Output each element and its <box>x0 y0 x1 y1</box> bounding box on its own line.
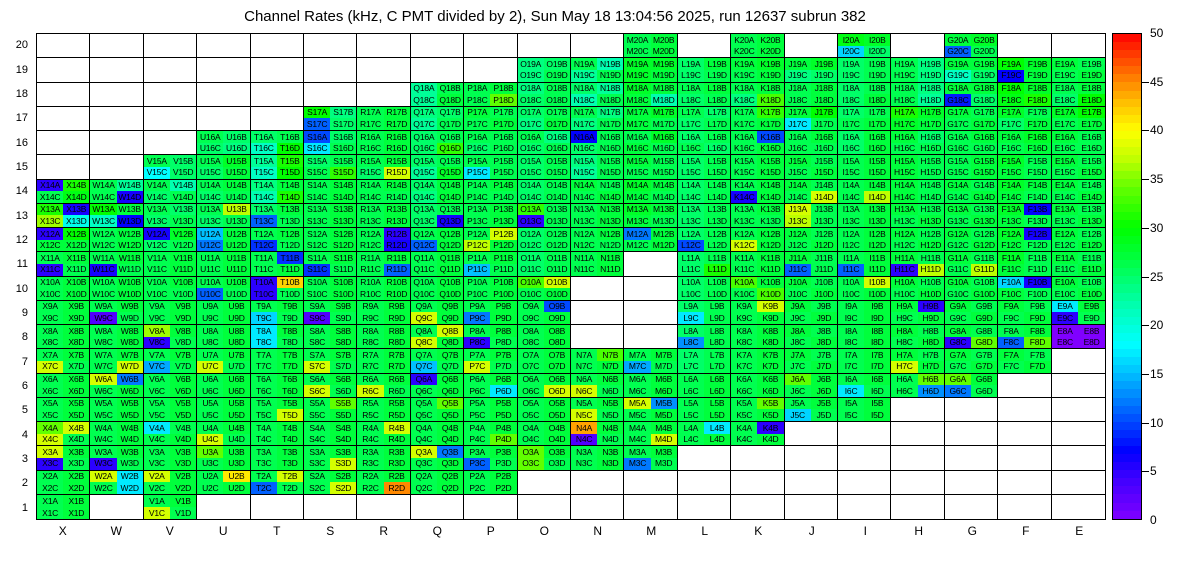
channel-E7C <box>1052 361 1079 373</box>
colorbar-segment <box>1113 139 1141 147</box>
channel-U3D: U3D <box>223 458 249 470</box>
channel-P6D: P6D <box>490 385 516 397</box>
channel-S10D: S10D <box>330 288 356 300</box>
channel-O3A: O3A <box>518 446 544 458</box>
channel-I19A: I19A <box>838 58 864 70</box>
grid-cell-W2: W2AW2BW2CW2D <box>90 471 143 495</box>
channel-J16B: J16B <box>811 131 837 143</box>
channel-H19A: H19A <box>891 58 917 70</box>
channel-G10D: G10D <box>971 288 997 300</box>
colorbar-tickmark <box>1142 423 1149 424</box>
channel-G2B <box>971 471 997 483</box>
channel-W7C: W7C <box>90 361 116 373</box>
channel-N11A: N11A <box>571 252 597 264</box>
channel-Q17A: Q17A <box>411 107 437 119</box>
channel-N15A: N15A <box>571 155 597 167</box>
channel-L4C: L4C <box>678 434 704 446</box>
channel-E3B <box>1078 446 1105 458</box>
channel-K2D <box>757 482 783 494</box>
colorbar-segment <box>1113 123 1141 131</box>
channel-R16D: R16D <box>384 143 410 155</box>
channel-F20A <box>998 34 1024 46</box>
channel-I16A: I16A <box>838 131 864 143</box>
channel-N3C: N3C <box>571 458 597 470</box>
channel-S1A <box>304 495 330 507</box>
channel-T9C: T9C <box>251 312 277 324</box>
channel-V5B: V5B <box>170 398 196 410</box>
channel-J13D: J13D <box>811 215 837 227</box>
channel-X16D <box>63 143 89 155</box>
grid-cell-S2: S2AS2BS2CS2D <box>304 471 357 495</box>
channel-S18A <box>304 83 330 95</box>
channel-H5B <box>918 398 944 410</box>
channel-H15B: H15B <box>918 155 944 167</box>
grid-cell-J4 <box>785 422 838 446</box>
channel-H2D <box>918 482 944 494</box>
channel-J8A: J8A <box>785 325 811 337</box>
grid-cell-E16: E16AE16BE16CE16D <box>1052 131 1105 155</box>
channel-N9D <box>597 312 623 324</box>
channel-S8A: S8A <box>304 325 330 337</box>
channel-P17A: P17A <box>464 107 490 119</box>
channel-S5D: S5D <box>330 409 356 421</box>
channel-L6D: L6D <box>704 385 730 397</box>
channel-J20B <box>811 34 837 46</box>
channel-H15D: H15D <box>918 167 944 179</box>
channel-P4A: P4A <box>464 422 490 434</box>
channel-T19C <box>251 70 277 82</box>
channel-I18B: I18B <box>864 83 890 95</box>
channel-J4C <box>785 434 811 446</box>
grid-cell-N16: N16AN16BN16CN16D <box>571 131 624 155</box>
channel-V6C: V6C <box>144 385 170 397</box>
channel-K8A: K8A <box>731 325 757 337</box>
channel-J3A <box>785 446 811 458</box>
grid-cell-I9: I9AI9BI9CI9D <box>838 301 891 325</box>
grid-cell-F1 <box>998 495 1051 519</box>
channel-P11B: P11B <box>490 252 516 264</box>
channel-R19B <box>384 58 410 70</box>
channel-L20B <box>704 34 730 46</box>
channel-M8B <box>651 325 677 337</box>
channel-G1A <box>945 495 971 507</box>
channel-O11A: O11A <box>518 252 544 264</box>
channel-Q17C: Q17C <box>411 118 437 130</box>
channel-M17B: M17B <box>651 107 677 119</box>
channel-W4D: W4D <box>117 434 143 446</box>
grid-cell-N17: N17AN17BN17CN17D <box>571 107 624 131</box>
channel-X2A: X2A <box>37 471 63 483</box>
channel-M12C: M12C <box>624 240 650 252</box>
channel-U16B: U16B <box>223 131 249 143</box>
channel-O15D: O15D <box>544 167 570 179</box>
channel-J10B: J10B <box>811 277 837 289</box>
grid-cell-I15: I15AI15BI15CI15D <box>838 155 891 179</box>
grid-cell-Q2: Q2AQ2BQ2CQ2D <box>411 471 464 495</box>
colorbar-segment <box>1113 462 1141 470</box>
channel-J8B: J8B <box>811 325 837 337</box>
channel-N17C: N17C <box>571 118 597 130</box>
channel-N3D: N3D <box>597 458 623 470</box>
channel-J19A: J19A <box>785 58 811 70</box>
grid-cell-U13: U13AU13BU13CU13D <box>197 204 250 228</box>
colorbar-segment <box>1113 301 1141 309</box>
colorbar-segment <box>1113 293 1141 301</box>
channel-I20D: I20D <box>864 46 890 58</box>
channel-R10D: R10D <box>384 288 410 300</box>
colorbar-segment <box>1113 438 1141 446</box>
grid-cell-V11: V11AV11BV11CV11D <box>144 252 197 276</box>
channel-N11D: N11D <box>597 264 623 276</box>
channel-L10B: L10B <box>704 277 730 289</box>
channel-X4A: X4A <box>37 422 63 434</box>
channel-E4D <box>1078 434 1105 446</box>
channel-N14A: N14A <box>571 180 597 192</box>
channel-U7D: U7D <box>223 361 249 373</box>
channel-K9C: K9C <box>731 312 757 324</box>
grid-cell-K8: K8AK8BK8CK8D <box>731 325 784 349</box>
grid-cell-T3: T3AT3BT3CT3D <box>251 446 304 470</box>
grid-cell-I2 <box>838 471 891 495</box>
grid-cell-P11: P11AP11BP11CP11D <box>464 252 517 276</box>
channel-M13C: M13C <box>624 215 650 227</box>
channel-O5A: O5A <box>518 398 544 410</box>
channel-L5C: L5C <box>678 409 704 421</box>
channel-G3B <box>971 446 997 458</box>
channel-U10B: U10B <box>223 277 249 289</box>
channel-G13A: G13A <box>945 204 971 216</box>
channel-H4A <box>891 422 917 434</box>
grid-cell-O5: O5AO5BO5CO5D <box>518 398 571 422</box>
grid-cell-H8: H8AH8BH8CH8D <box>891 325 944 349</box>
channel-T5B: T5B <box>277 398 303 410</box>
grid-cell-Q6: Q6AQ6BQ6CQ6D <box>411 374 464 398</box>
grid-cell-S16: S16AS16BS16CS16D <box>304 131 357 155</box>
channel-E7D <box>1078 361 1105 373</box>
channel-K15A: K15A <box>731 155 757 167</box>
channel-X7B: X7B <box>63 349 89 361</box>
channel-I13D: I13D <box>864 215 890 227</box>
channel-U19A <box>197 58 223 70</box>
grid-cell-L17: L17AL17BL17CL17D <box>678 107 731 131</box>
channel-X3B: X3B <box>63 446 89 458</box>
channel-O15A: O15A <box>518 155 544 167</box>
channel-F11A: F11A <box>998 252 1024 264</box>
channel-M8D <box>651 337 677 349</box>
channel-E18D: E18D <box>1078 94 1105 106</box>
channel-K18A: K18A <box>731 83 757 95</box>
channel-J19D: J19D <box>811 70 837 82</box>
channel-K17B: K17B <box>757 107 783 119</box>
channel-J11D: J11D <box>811 264 837 276</box>
channel-N1B <box>597 495 623 507</box>
grid-cell-W13: W13AW13BW13CW13D <box>90 204 143 228</box>
channel-V8A: V8A <box>144 325 170 337</box>
channel-F13B: F13B <box>1024 204 1050 216</box>
channel-O19B: O19B <box>544 58 570 70</box>
channel-G7C: G7C <box>945 361 971 373</box>
channel-R6B: R6B <box>384 374 410 386</box>
channel-E13A: E13A <box>1052 204 1079 216</box>
channel-H11D: H11D <box>918 264 944 276</box>
grid-cell-K6: K6AK6BK6CK6D <box>731 374 784 398</box>
channel-L2B <box>704 471 730 483</box>
channel-F17A: F17A <box>998 107 1024 119</box>
channel-G4C <box>945 434 971 446</box>
channel-E10B: E10B <box>1078 277 1105 289</box>
channel-Q20D <box>437 46 463 58</box>
grid-cell-O8: O8AO8BO8CO8D <box>518 325 571 349</box>
channel-F4A <box>998 422 1024 434</box>
channel-G5D <box>971 409 997 421</box>
channel-V16C <box>144 143 170 155</box>
channel-W10C: W10C <box>90 288 116 300</box>
channel-J14A: J14A <box>785 180 811 192</box>
channel-J13C: J13C <box>785 215 811 227</box>
channel-H14D: H14D <box>918 191 944 203</box>
channel-O19A: O19A <box>518 58 544 70</box>
grid-cell-N15: N15AN15BN15CN15D <box>571 155 624 179</box>
channel-W15B <box>117 155 143 167</box>
channel-M1D <box>651 507 677 519</box>
channel-P18A: P18A <box>464 83 490 95</box>
grid-cell-L8: L8AL8BL8CL8D <box>678 325 731 349</box>
channel-I13C: I13C <box>838 215 864 227</box>
channel-T12B: T12B <box>277 228 303 240</box>
channel-P6C: P6C <box>464 385 490 397</box>
channel-T15A: T15A <box>251 155 277 167</box>
channel-Q3A: Q3A <box>411 446 437 458</box>
channel-J3C <box>785 458 811 470</box>
channel-O3D: O3D <box>544 458 570 470</box>
channel-O8B: O8B <box>544 325 570 337</box>
grid-cell-I12: I12AI12BI12CI12D <box>838 228 891 252</box>
grid-cell-L4: L4AL4BL4CL4D <box>678 422 731 446</box>
channel-P6B: P6B <box>490 374 516 386</box>
channel-M7D: M7D <box>651 361 677 373</box>
grid-cell-F18: F18AF18BF18CF18D <box>998 83 1051 107</box>
channel-U13D: U13D <box>223 215 249 227</box>
channel-V5A: V5A <box>144 398 170 410</box>
channel-M17C: M17C <box>624 118 650 130</box>
channel-N10A <box>571 277 597 289</box>
channel-H2C <box>891 482 917 494</box>
grid-cell-L13: L13AL13BL13CL13D <box>678 204 731 228</box>
channel-S1C <box>304 507 330 519</box>
channel-W13A: W13A <box>90 204 116 216</box>
grid-cell-L16: L16AL16BL16CL16D <box>678 131 731 155</box>
channel-O11C: O11C <box>518 264 544 276</box>
grid-cell-K15: K15AK15BK15CK15D <box>731 155 784 179</box>
grid-cell-F17: F17AF17BF17CF17D <box>998 107 1051 131</box>
channel-L10D: L10D <box>704 288 730 300</box>
channel-T4A: T4A <box>251 422 277 434</box>
channel-N5D: N5D <box>597 409 623 421</box>
channel-M15B: M15B <box>651 155 677 167</box>
grid-cell-P3: P3AP3BP3CP3D <box>464 446 517 470</box>
grid-cell-M1 <box>624 495 677 519</box>
grid-cell-M7: M7AM7BM7CM7D <box>624 349 677 373</box>
grid-cell-R19 <box>357 58 410 82</box>
grid-cell-R4: R4AR4BR4CR4D <box>357 422 410 446</box>
channel-T7B: T7B <box>277 349 303 361</box>
channel-L17D: L17D <box>704 118 730 130</box>
channel-U3B: U3B <box>223 446 249 458</box>
grid-cell-L6: L6AL6BL6CL6D <box>678 374 731 398</box>
channel-P7D: P7D <box>490 361 516 373</box>
channel-Q20B <box>437 34 463 46</box>
channel-E11B: E11B <box>1078 252 1105 264</box>
channel-H12C: H12C <box>891 240 917 252</box>
grid-cell-Q16: Q16AQ16BQ16CQ16D <box>411 131 464 155</box>
grid-cell-U2: U2AU2BU2CU2D <box>197 471 250 495</box>
channel-P14C: P14C <box>464 191 490 203</box>
channel-N4A: N4A <box>571 422 597 434</box>
channel-N3A: N3A <box>571 446 597 458</box>
channel-G3A <box>945 446 971 458</box>
grid-cell-V15: V15AV15BV15CV15D <box>144 155 197 179</box>
channel-J9C: J9C <box>785 312 811 324</box>
channel-O16D: O16D <box>544 143 570 155</box>
grid-cell-O20 <box>518 34 571 58</box>
channel-X3A: X3A <box>37 446 63 458</box>
channel-P5A: P5A <box>464 398 490 410</box>
channel-U9A: U9A <box>197 301 223 313</box>
channel-J2D <box>811 482 837 494</box>
channel-K10D: K10D <box>757 288 783 300</box>
channel-X20D <box>63 46 89 58</box>
channel-G20D: G20D <box>971 46 997 58</box>
grid-cell-E2 <box>1052 471 1105 495</box>
channel-Q19D <box>437 70 463 82</box>
channel-I5D: I5D <box>864 409 890 421</box>
channel-J2A <box>785 471 811 483</box>
channel-K4A: K4A <box>731 422 757 434</box>
channel-X18C <box>37 94 63 106</box>
colorbar-segment <box>1113 284 1141 292</box>
colorbar-segment <box>1113 187 1141 195</box>
channel-J1A <box>785 495 811 507</box>
grid-cell-J14: J14AJ14BJ14CJ14D <box>785 180 838 204</box>
channel-T9A: T9A <box>251 301 277 313</box>
channel-E8D: E8D <box>1078 337 1105 349</box>
channel-N18B: N18B <box>597 83 623 95</box>
channel-P16A: P16A <box>464 131 490 143</box>
channel-E5C <box>1052 409 1079 421</box>
channel-I14D: I14D <box>864 191 890 203</box>
channel-L9A: L9A <box>678 301 704 313</box>
channel-O14C: O14C <box>518 191 544 203</box>
channel-X17A <box>37 107 63 119</box>
channel-U11A: U11A <box>197 252 223 264</box>
channel-S2A: S2A <box>304 471 330 483</box>
channel-W4B: W4B <box>117 422 143 434</box>
channel-M9D <box>651 312 677 324</box>
grid-cell-I20: I20AI20BI20CI20D <box>838 34 891 58</box>
channel-R7B: R7B <box>384 349 410 361</box>
channel-F18B: F18B <box>1024 83 1050 95</box>
grid-cell-K7: K7AK7BK7CK7D <box>731 349 784 373</box>
channel-P9B: P9B <box>490 301 516 313</box>
channel-M8C <box>624 337 650 349</box>
channel-U3C: U3C <box>197 458 223 470</box>
channel-F19A: F19A <box>998 58 1024 70</box>
channel-J11B: J11B <box>811 252 837 264</box>
grid-cell-H2 <box>891 471 944 495</box>
grid-cell-W6: W6AW6BW6CW6D <box>90 374 143 398</box>
channel-S9B: S9B <box>330 301 356 313</box>
grid-cell-R8: R8AR8BR8CR8D <box>357 325 410 349</box>
channel-R4D: R4D <box>384 434 410 446</box>
channel-T20D <box>277 46 303 58</box>
grid-cell-R2: R2AR2BR2CR2D <box>357 471 410 495</box>
channel-R5A: R5A <box>357 398 383 410</box>
channel-I12C: I12C <box>838 240 864 252</box>
channel-F20B <box>1024 34 1050 46</box>
channel-O18B: O18B <box>544 83 570 95</box>
grid-cell-L2 <box>678 471 731 495</box>
channel-J16A: J16A <box>785 131 811 143</box>
channel-X8D: X8D <box>63 337 89 349</box>
grid-cell-N14: N14AN14BN14CN14D <box>571 180 624 204</box>
channel-W20A <box>90 34 116 46</box>
channel-L2C <box>678 482 704 494</box>
channel-E8A: E8A <box>1052 325 1079 337</box>
channel-R20D <box>384 46 410 58</box>
channel-T2B: T2B <box>277 471 303 483</box>
channel-K12A: K12A <box>731 228 757 240</box>
channel-S6A: S6A <box>304 374 330 386</box>
channel-E20B <box>1078 34 1105 46</box>
grid-cell-M8 <box>624 325 677 349</box>
channel-J5C: J5C <box>785 409 811 421</box>
grid-cell-S5: S5AS5BS5CS5D <box>304 398 357 422</box>
channel-S10A: S10A <box>304 277 330 289</box>
channel-O18A: O18A <box>518 83 544 95</box>
channel-E19B: E19B <box>1078 58 1105 70</box>
channel-P2D: P2D <box>490 482 516 494</box>
channel-K5D: K5D <box>757 409 783 421</box>
grid-cell-H20 <box>891 34 944 58</box>
grid-cell-X3: X3AX3BX3CX3D <box>37 446 90 470</box>
channel-P19C <box>464 70 490 82</box>
grid-cell-K18: K18AK18BK18CK18D <box>731 83 784 107</box>
channel-S4B: S4B <box>330 422 356 434</box>
channel-H18A: H18A <box>891 83 917 95</box>
channel-W5D: W5D <box>117 409 143 421</box>
channel-H3B <box>918 446 944 458</box>
grid-cell-T14: T14AT14BT14CT14D <box>251 180 304 204</box>
channel-T3C: T3C <box>251 458 277 470</box>
colorbar-tick-5: 5 <box>1150 464 1157 478</box>
channel-I12A: I12A <box>838 228 864 240</box>
channel-V8B: V8B <box>170 325 196 337</box>
grid-cell-Q5: Q5AQ5BQ5CQ5D <box>411 398 464 422</box>
channel-O12B: O12B <box>544 228 570 240</box>
channel-S19D <box>330 70 356 82</box>
channel-Q12D: Q12D <box>437 240 463 252</box>
grid-cell-L10: L10AL10BL10CL10D <box>678 277 731 301</box>
channel-S11B: S11B <box>330 252 356 264</box>
grid-cell-J16: J16AJ16BJ16CJ16D <box>785 131 838 155</box>
grid-cell-J19: J19AJ19BJ19CJ19D <box>785 58 838 82</box>
channel-O3C: O3C <box>518 458 544 470</box>
channel-M14B: M14B <box>651 180 677 192</box>
channel-F7D: F7D <box>1024 361 1050 373</box>
grid-cell-X4: X4AX4BX4CX4D <box>37 422 90 446</box>
channel-S16D: S16D <box>330 143 356 155</box>
channel-S4D: S4D <box>330 434 356 446</box>
